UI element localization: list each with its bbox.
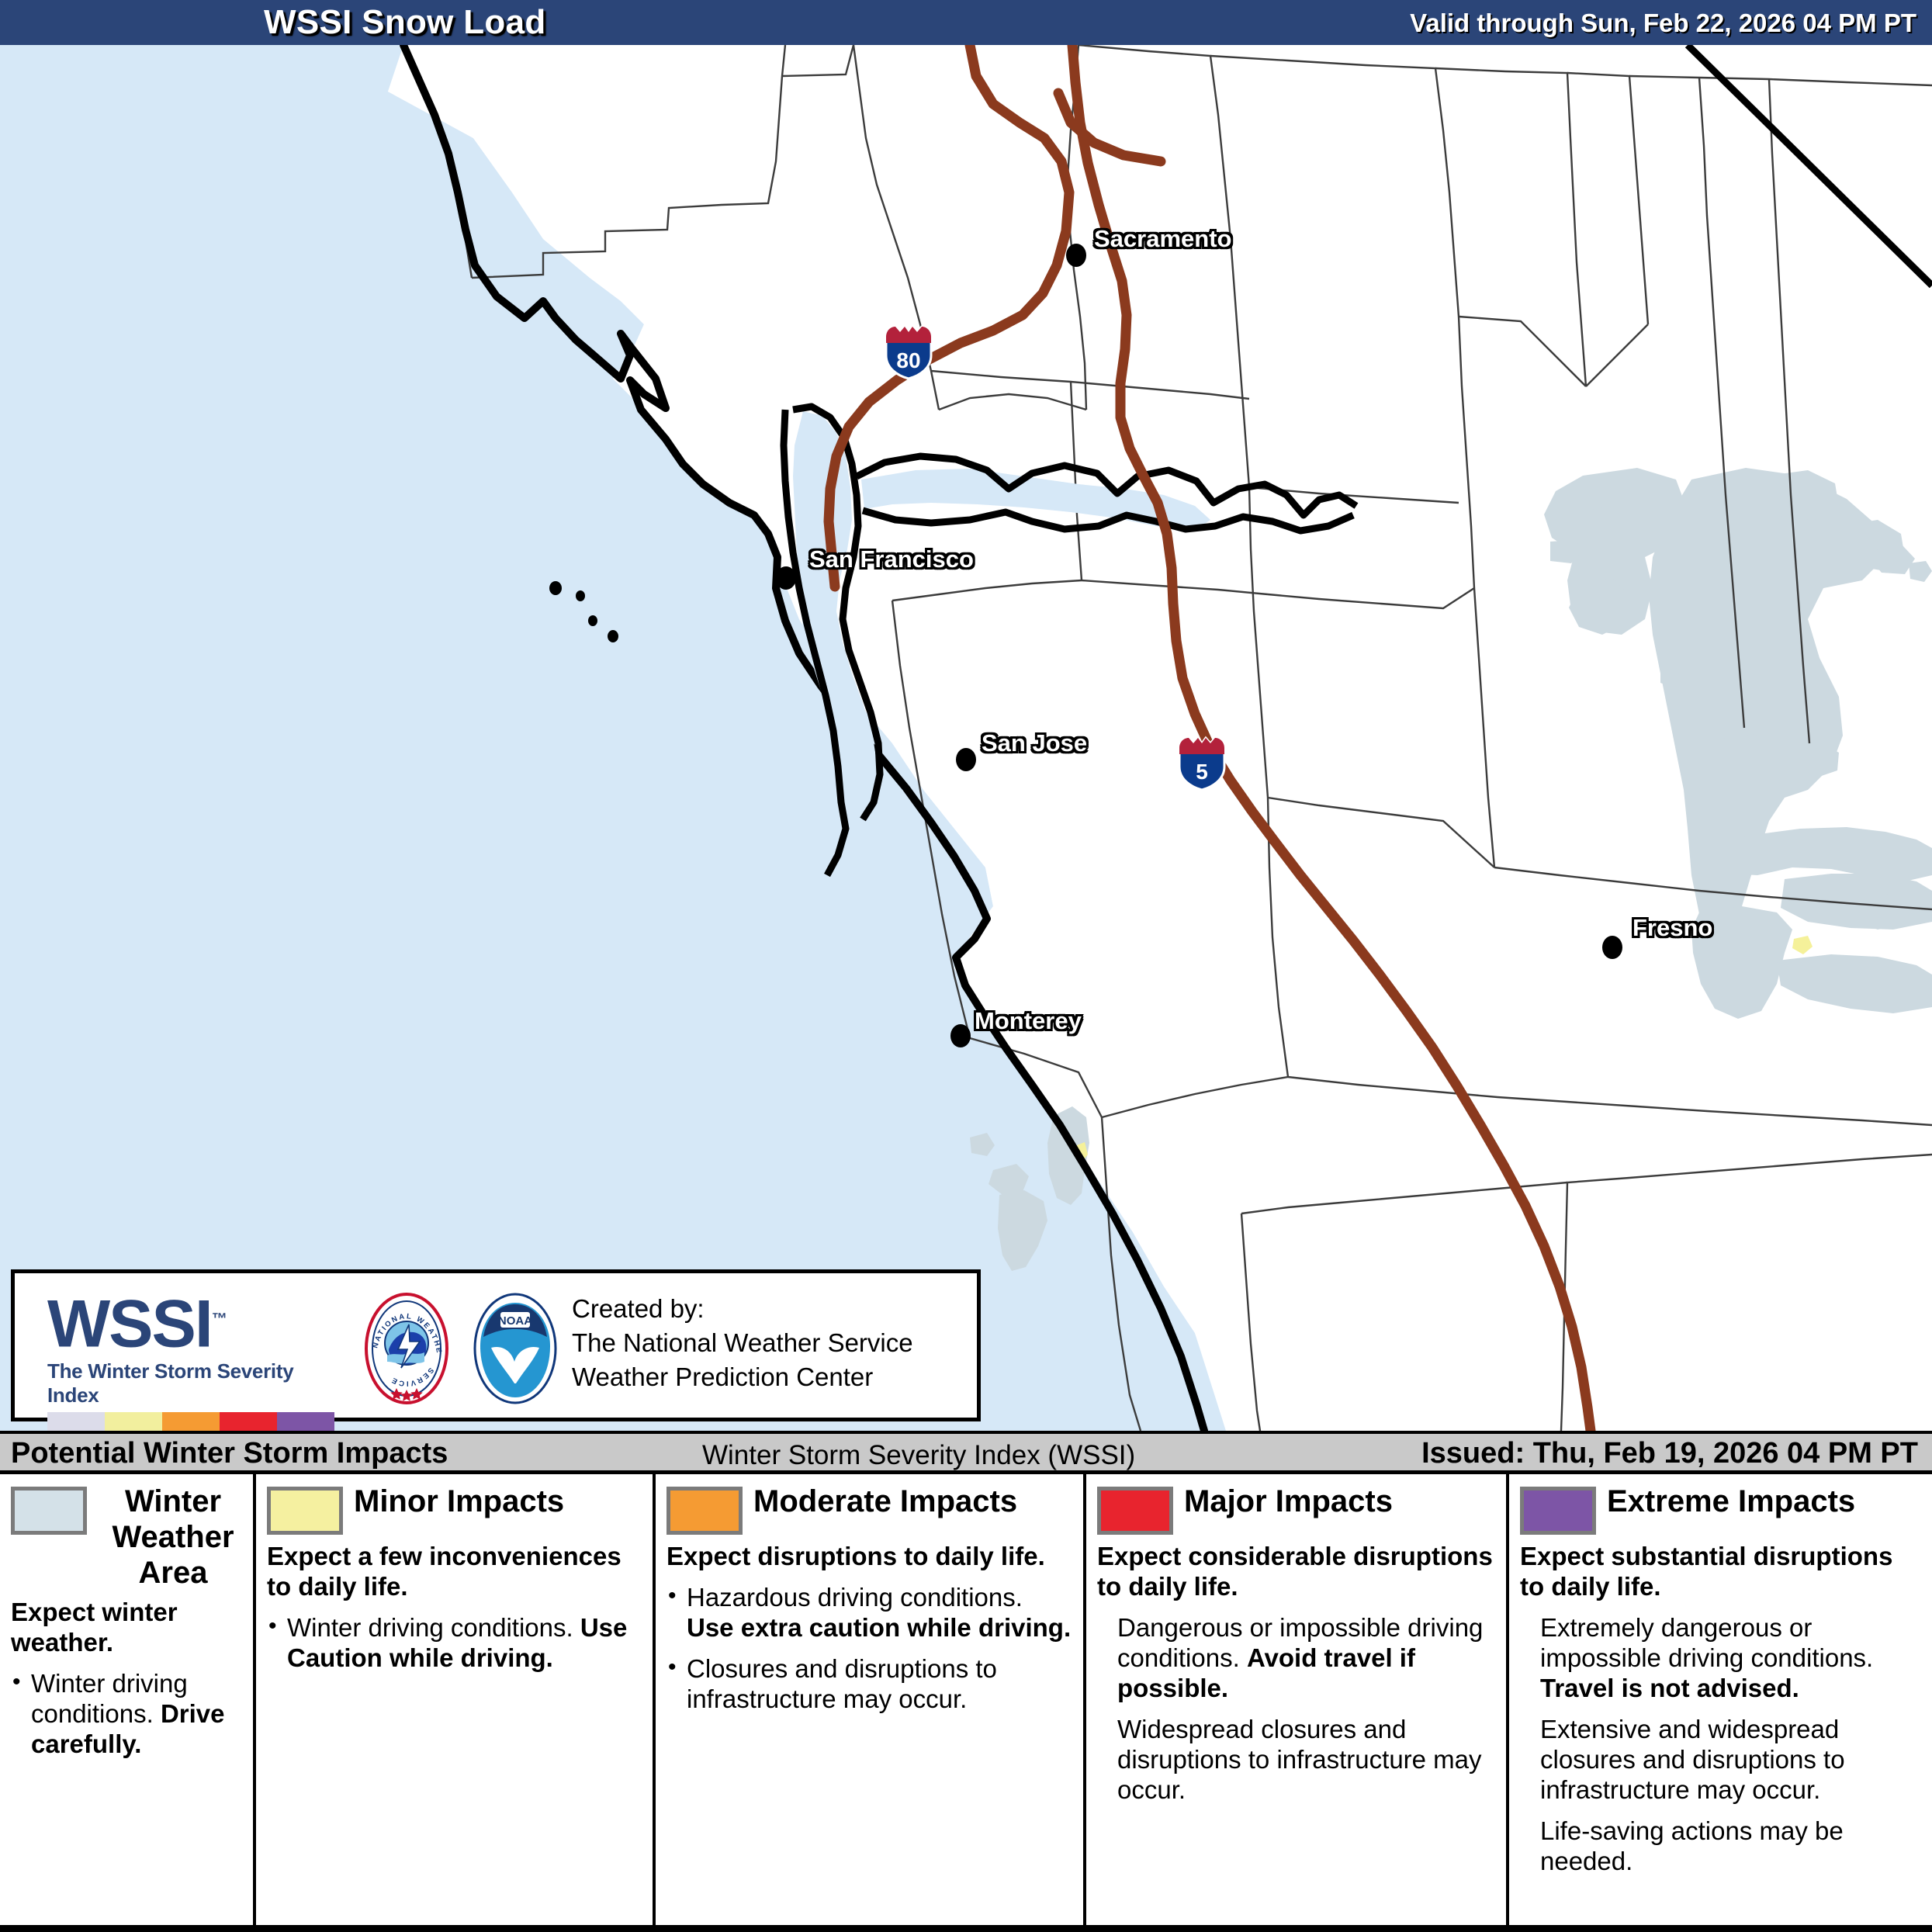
wssi-logo-panel: WSSI™ The Winter Storm Severity Index [11, 1269, 981, 1421]
page-title: WSSI Snow Load [264, 3, 546, 42]
shield-number-80: 80 [896, 348, 920, 372]
legend-title-minor-impacts: Minor Impacts [354, 1484, 564, 1519]
wssi-color-bar-major [220, 1412, 277, 1431]
legend-bullets-moderate-impacts: Hazardous driving conditions. Use extra … [667, 1582, 1074, 1714]
legend-swatch-minor-impacts [267, 1487, 343, 1535]
list-item: Closures and disruptions to infrastructu… [667, 1653, 1074, 1714]
created-by-label: Created by: [572, 1292, 913, 1326]
impact-legend: Winter Weather Area Expect winter weathe… [0, 1474, 1932, 1932]
legend-title-winter-weather-area: Winter Weather Area [98, 1484, 248, 1591]
legend-lead-minor-impacts: Expect a few inconveniences to daily lif… [267, 1541, 643, 1601]
wssi-snow-load-page: WSSI Snow Load Valid through Sun, Feb 22… [0, 0, 1932, 1932]
legend-bullets-minor-impacts: Winter driving conditions. Use Caution w… [267, 1612, 643, 1673]
map-canvas[interactable]: Sacramento San Francisco San Jose Fresno… [0, 45, 1932, 1431]
legend-column-major-impacts[interactable]: Major Impacts Expect considerable disrup… [1086, 1474, 1509, 1925]
wssi-wordmark: WSSI™ [47, 1286, 350, 1358]
legend-title-moderate-impacts: Moderate Impacts [753, 1484, 1017, 1519]
legend-lead-extreme-impacts: Expect substantial disruptions to daily … [1520, 1541, 1923, 1601]
wssi-full-name-label: Winter Storm Severity Index (WSSI) [702, 1440, 1135, 1471]
list-item: Hazardous driving conditions. Use extra … [667, 1582, 1074, 1643]
wssi-trademark-icon: ™ [212, 1311, 226, 1328]
legend-bullets-major-impacts: Dangerous or impossible driving conditio… [1097, 1612, 1497, 1805]
legend-bullets-extreme-impacts: Extremely dangerous or impossible drivin… [1520, 1612, 1923, 1876]
legend-lead-winter-weather-area: Expect winter weather. [11, 1597, 244, 1657]
list-item: Life-saving actions may be needed. [1520, 1816, 1923, 1876]
legend-swatch-moderate-impacts [667, 1487, 743, 1535]
wssi-color-bar-extreme [277, 1412, 334, 1431]
potential-impacts-label: Potential Winter Storm Impacts [11, 1437, 448, 1470]
wssi-color-bar-minor [105, 1412, 162, 1431]
noaa-seal-icon: NATIONAL OCEANIC AND ATMOSPHERIC ADMINIS… [457, 1290, 573, 1407]
legend-swatch-winter-weather-area [11, 1487, 87, 1535]
city-dot-sacramento [1066, 244, 1086, 267]
title-bar: WSSI Snow Load Valid through Sun, Feb 22… [0, 0, 1932, 45]
city-label-san-francisco: San Francisco [809, 545, 974, 573]
nws-seal-icon: NATIONAL WEATHER SERVICE [348, 1290, 465, 1407]
legend-column-winter-weather-area[interactable]: Winter Weather Area Expect winter weathe… [0, 1474, 256, 1925]
city-dot-san-francisco [776, 566, 796, 590]
legend-bullets-winter-weather-area: Winter driving conditions. Drive careful… [11, 1668, 244, 1759]
wssi-color-bar-moderate [162, 1412, 220, 1431]
created-by-center: Weather Prediction Center [572, 1360, 913, 1394]
interstate-80-shield-icon: 80 [885, 324, 933, 380]
status-bar: Potential Winter Storm Impacts Winter St… [0, 1431, 1932, 1474]
legend-title-major-impacts: Major Impacts [1184, 1484, 1393, 1519]
noaa-seal-wordmark: NOAA [498, 1314, 532, 1328]
wssi-color-bar-winter [47, 1412, 105, 1431]
created-by-agency: The National Weather Service [572, 1326, 913, 1360]
issued-timestamp: Issued: Thu, Feb 19, 2026 04 PM PT [1421, 1437, 1918, 1470]
legend-title-extreme-impacts: Extreme Impacts [1607, 1484, 1855, 1519]
wssi-logo: WSSI™ The Winter Storm Severity Index [47, 1286, 350, 1431]
wssi-wordmark-text: WSSI [47, 1287, 212, 1362]
city-label-fresno: Fresno [1633, 914, 1712, 942]
legend-lead-moderate-impacts: Expect disruptions to daily life. [667, 1541, 1074, 1571]
legend-swatch-major-impacts [1097, 1487, 1173, 1535]
valid-through-text: Valid through Sun, Feb 22, 2026 04 PM PT [1410, 9, 1916, 38]
city-label-monterey: Monterey [975, 1007, 1082, 1035]
city-label-san-jose: San Jose [982, 729, 1087, 757]
legend-column-moderate-impacts[interactable]: Moderate Impacts Expect disruptions to d… [656, 1474, 1086, 1925]
city-dot-san-jose [956, 748, 976, 771]
wssi-subtitle: The Winter Storm Severity Index [47, 1359, 350, 1407]
list-item: Winter driving conditions. Use Caution w… [267, 1612, 643, 1673]
city-label-sacramento: Sacramento [1094, 225, 1231, 253]
city-dot-monterey [950, 1024, 971, 1047]
list-item: Extensive and widespread closures and di… [1520, 1714, 1923, 1805]
legend-lead-major-impacts: Expect considerable disruptions to daily… [1097, 1541, 1497, 1601]
created-by-block: Created by: The National Weather Service… [572, 1292, 913, 1394]
map-graphic [0, 45, 1932, 1431]
list-item: Extremely dangerous or impossible drivin… [1520, 1612, 1923, 1703]
list-item: Dangerous or impossible driving conditio… [1097, 1612, 1497, 1703]
legend-column-minor-impacts[interactable]: Minor Impacts Expect a few inconvenience… [256, 1474, 656, 1925]
interstate-5-shield-icon: 5 [1178, 736, 1226, 791]
shield-number-5: 5 [1196, 760, 1208, 784]
legend-swatch-extreme-impacts [1520, 1487, 1596, 1535]
legend-column-extreme-impacts[interactable]: Extreme Impacts Expect substantial disru… [1509, 1474, 1932, 1925]
list-item: Widespread closures and disruptions to i… [1097, 1714, 1497, 1805]
wssi-color-bar [47, 1412, 334, 1431]
city-dot-fresno [1602, 936, 1622, 959]
list-item: Winter driving conditions. Drive careful… [11, 1668, 244, 1759]
